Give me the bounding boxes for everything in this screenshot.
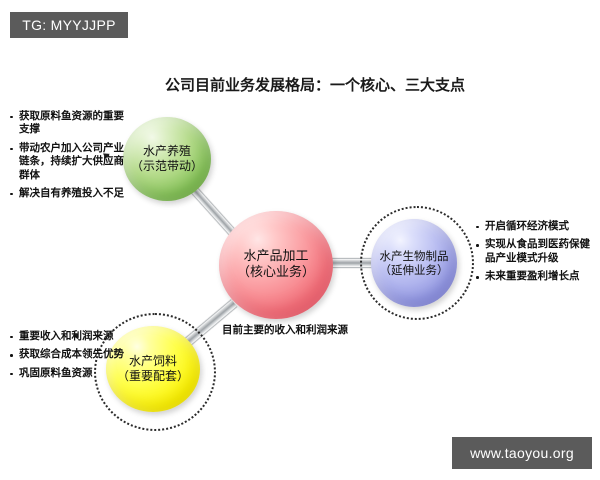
- node-bioproducts-name: 水产生物制品: [380, 249, 449, 263]
- node-feed-name: 水产饲料: [129, 354, 177, 369]
- list-item: 未来重要盈利增长点: [476, 270, 596, 283]
- diagram-canvas: TG: MYYJJPP 公司目前业务发展格局：一个核心、三大支点 水产养殖 （示…: [0, 0, 600, 480]
- node-core-role: （核心业务）: [237, 265, 315, 281]
- watermark-bottom-right: www.taoyou.org: [452, 437, 592, 469]
- node-core[interactable]: 水产品加工 （核心业务）: [219, 211, 333, 319]
- list-item: 获取原料鱼资源的重要支撑: [10, 110, 128, 137]
- page-title: 公司目前业务发展格局：一个核心、三大支点: [150, 74, 480, 95]
- node-bioproducts[interactable]: 水产生物制品 （延伸业务）: [371, 219, 457, 307]
- node-bioproducts-role: （延伸业务）: [380, 263, 449, 277]
- list-item: 巩固原料鱼资源: [10, 367, 134, 380]
- list-item: 获取综合成本领先优势: [10, 348, 134, 361]
- node-farming[interactable]: 水产养殖 （示范带动）: [123, 117, 211, 201]
- bullets-feed: 重要收入和利润来源获取综合成本领先优势巩固原料鱼资源: [10, 330, 134, 385]
- core-caption: 目前主要的收入和利润来源: [222, 322, 392, 337]
- list-item: 重要收入和利润来源: [10, 330, 134, 343]
- bullets-bioproducts: 开启循环经济模式实现从食品到医药保健品产业模式升级未来重要盈利增长点: [476, 220, 596, 289]
- bullets-bioproducts-list: 开启循环经济模式实现从食品到医药保健品产业模式升级未来重要盈利增长点: [476, 220, 596, 284]
- node-farming-name: 水产养殖: [143, 144, 191, 159]
- bullets-feed-list: 重要收入和利润来源获取综合成本领先优势巩固原料鱼资源: [10, 330, 134, 380]
- bullets-farming: 获取原料鱼资源的重要支撑带动农户加入公司产业链条，持续扩大供应商群体解决自有养殖…: [10, 110, 128, 206]
- list-item: 解决自有养殖投入不足: [10, 187, 128, 200]
- node-core-name: 水产品加工: [243, 249, 308, 265]
- list-item: 实现从食品到医药保健品产业模式升级: [476, 238, 596, 265]
- node-farming-role: （示范带动）: [131, 159, 203, 174]
- list-item: 开启循环经济模式: [476, 220, 596, 233]
- watermark-top-left: TG: MYYJJPP: [10, 12, 128, 38]
- list-item: 带动农户加入公司产业链条，持续扩大供应商群体: [10, 142, 128, 182]
- bullets-farming-list: 获取原料鱼资源的重要支撑带动农户加入公司产业链条，持续扩大供应商群体解决自有养殖…: [10, 110, 128, 201]
